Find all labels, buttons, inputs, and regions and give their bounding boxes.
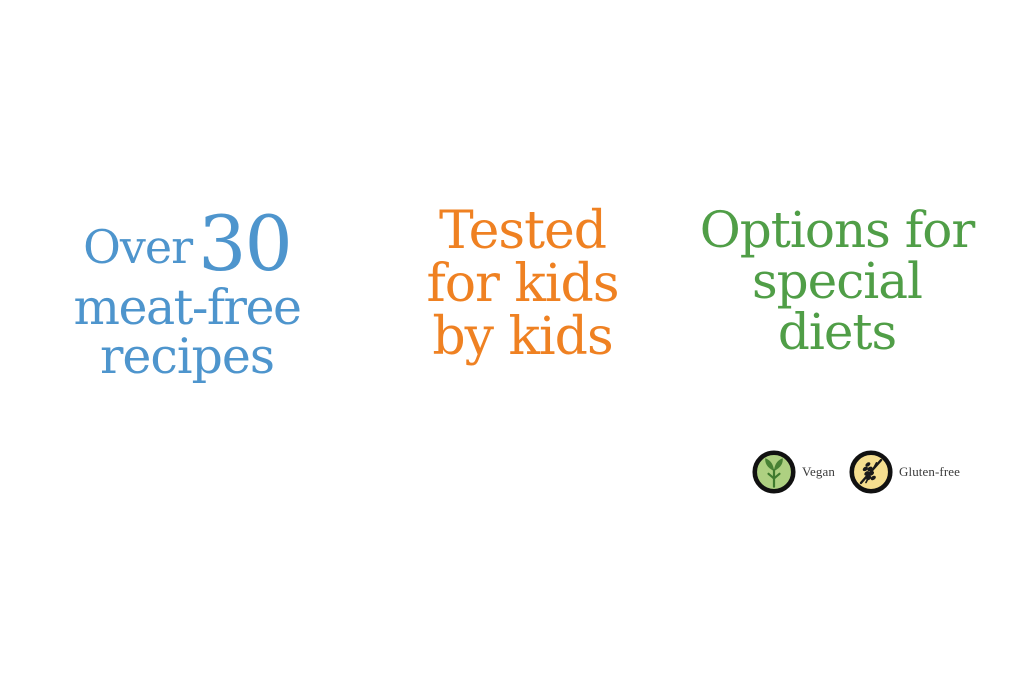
feature-recipes-prefix: Over	[83, 220, 192, 274]
feature-kids-headline: Tested for kids by kids	[390, 205, 655, 364]
feature-recipes: Over30 meat-free recipes	[22, 205, 352, 382]
feature-diets-line-3: diets	[677, 307, 997, 358]
feature-diets: Options for special diets	[677, 205, 997, 358]
feature-kids: Tested for kids by kids	[390, 205, 655, 364]
feature-recipes-line-2: meat-free	[22, 283, 352, 333]
feature-recipes-line-1: Over30	[22, 205, 352, 283]
feature-kids-line-3: by kids	[390, 311, 655, 364]
badge-gluten-free: Gluten-free	[849, 450, 960, 494]
promo-banner: Over30 meat-free recipes Tested for kids…	[0, 0, 1024, 683]
diet-badges: Vegan Gluten-free	[752, 450, 960, 494]
badge-vegan-label: Vegan	[802, 464, 835, 480]
feature-recipes-count: 30	[198, 199, 291, 288]
feature-kids-line-1: Tested	[390, 205, 655, 258]
feature-columns: Over30 meat-free recipes Tested for kids…	[0, 205, 1024, 382]
feature-recipes-headline: Over30 meat-free recipes	[22, 205, 352, 382]
vegan-leaf-icon	[752, 450, 796, 494]
feature-diets-line-1: Options for	[677, 205, 997, 256]
wheat-crossed-out-icon	[849, 450, 893, 494]
badge-vegan: Vegan	[752, 450, 835, 494]
feature-diets-line-2: special	[677, 256, 997, 307]
feature-diets-headline: Options for special diets	[677, 205, 997, 358]
feature-kids-line-2: for kids	[390, 258, 655, 311]
badge-gluten-free-label: Gluten-free	[899, 464, 960, 480]
feature-recipes-line-3: recipes	[22, 332, 352, 382]
